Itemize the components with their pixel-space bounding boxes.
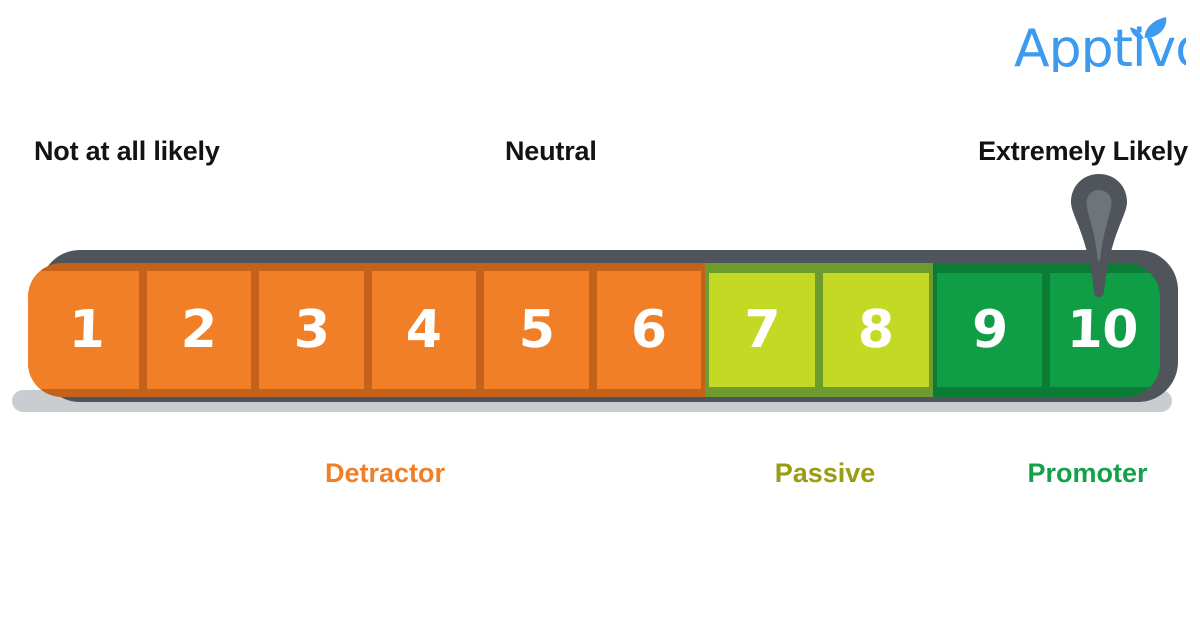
scale-cell-3[interactable]: 3	[259, 271, 364, 389]
scale-cell-1[interactable]: 1	[28, 271, 139, 389]
scale-selection-pointer[interactable]	[1068, 172, 1130, 302]
scale-cell-label: 3	[293, 304, 330, 356]
apptivo-logo: Apptivo	[1014, 14, 1186, 74]
scale-cell-8[interactable]: 8	[823, 273, 929, 387]
scale-cell-label: 10	[1066, 304, 1138, 356]
scale-track[interactable]: 1 2 3 4 5 6 7 8	[28, 263, 1160, 397]
nps-rating-scale[interactable]: 1 2 3 4 5 6 7 8	[0, 230, 1200, 410]
scale-cell-9[interactable]: 9	[937, 273, 1042, 387]
scale-cell-label: 4	[405, 304, 442, 356]
category-label-promoter: Promoter	[960, 458, 1200, 489]
anchor-label-low: Not at all likely	[34, 136, 220, 167]
scale-cell-5[interactable]: 5	[484, 271, 589, 389]
scale-cell-label: 9	[971, 304, 1008, 356]
scale-cell-2[interactable]: 2	[147, 271, 252, 389]
apptivo-wordmark: Apptivo	[1014, 19, 1186, 72]
scale-cell-label: 2	[180, 304, 217, 356]
scale-cell-6[interactable]: 6	[597, 271, 702, 389]
category-label-passive: Passive	[700, 458, 950, 489]
scale-segment-passive: 7 8	[705, 263, 933, 397]
scale-segment-detractor: 1 2 3 4 5 6	[28, 263, 705, 397]
anchor-label-mid: Neutral	[505, 136, 597, 167]
category-label-detractor: Detractor	[235, 458, 535, 489]
scale-cell-4[interactable]: 4	[372, 271, 477, 389]
map-pin-pointer-icon	[1071, 174, 1127, 297]
scale-cell-label: 8	[858, 304, 895, 356]
scale-cell-label: 5	[518, 304, 555, 356]
scale-cell-7[interactable]: 7	[709, 273, 815, 387]
scale-cell-label: 1	[68, 304, 105, 356]
scale-cell-label: 6	[630, 304, 667, 356]
scale-cell-label: 7	[744, 304, 781, 356]
anchor-label-high: Extremely Likely	[978, 136, 1188, 167]
